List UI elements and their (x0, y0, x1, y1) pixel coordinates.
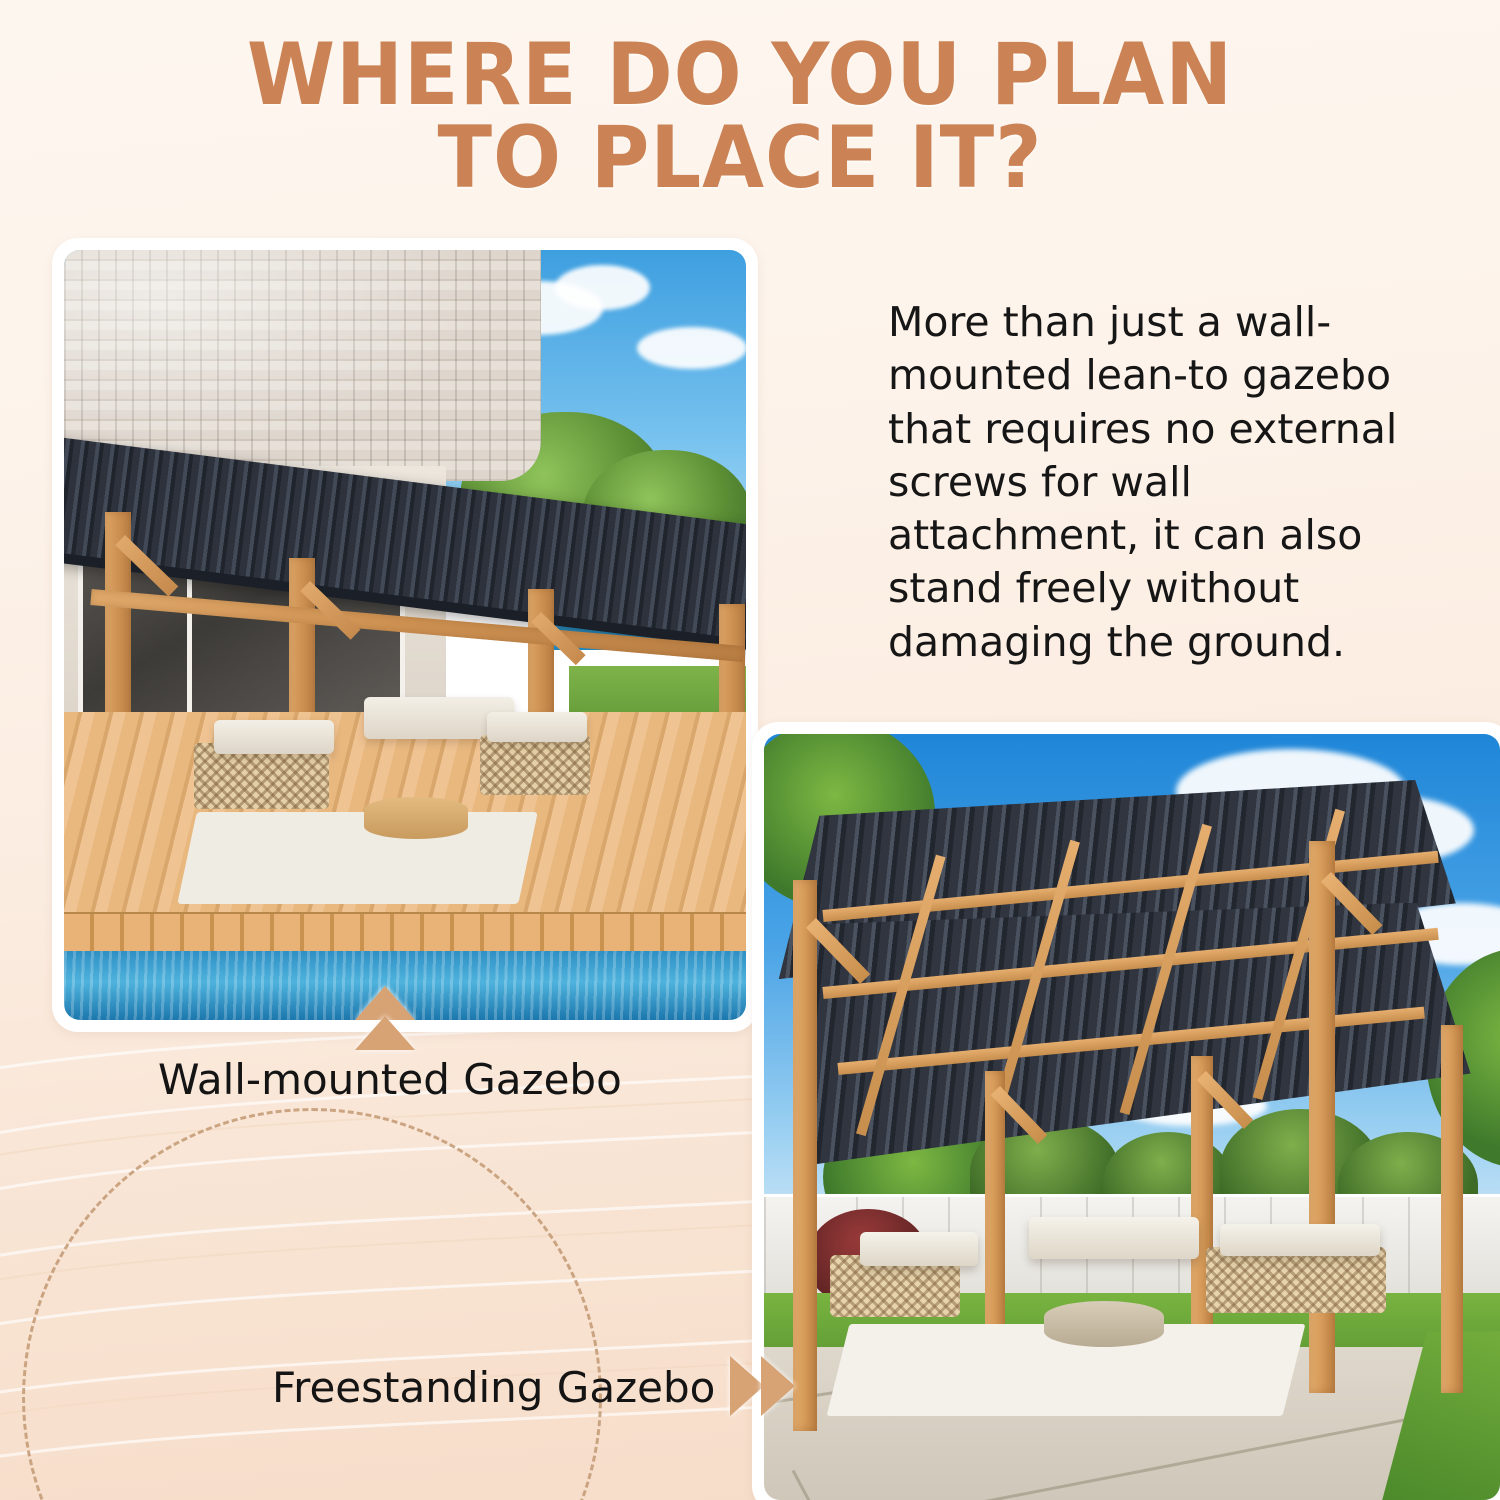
coffee-table (1044, 1301, 1164, 1347)
wicker-sectional (1206, 1247, 1386, 1313)
wicker-chair (480, 735, 590, 795)
caption-wall-mounted-gazebo: Wall-mounted Gazebo (158, 1055, 622, 1104)
page-title-line2: TO PLACE IT? (163, 117, 1316, 200)
double-chevron-up-icon (355, 1016, 415, 1050)
gazebo-post (1441, 1025, 1463, 1393)
dashed-circle-decor (22, 1108, 602, 1500)
sectional-cushion (1220, 1224, 1380, 1256)
double-chevron-up-icon (355, 986, 415, 1020)
photo-freestanding-inner (764, 734, 1500, 1500)
page-title: WHERE DO YOU PLAN TO PLACE IT? (163, 34, 1316, 201)
sofa-cushion (860, 1232, 978, 1266)
photo-freestanding-gazebo (752, 722, 1500, 1500)
double-chevron-right-icon (730, 1356, 764, 1416)
chair-cushion (487, 712, 587, 742)
sofa-cushion (214, 720, 334, 754)
outdoor-rug (177, 812, 538, 904)
coffee-table (364, 797, 468, 839)
gazebo-post (793, 880, 817, 1432)
sectional-cushion (1029, 1217, 1199, 1259)
caption-freestanding-gazebo: Freestanding Gazebo (272, 1363, 715, 1412)
photo-wall-mounted-inner (64, 250, 746, 1020)
infographic-canvas: WHERE DO YOU PLAN TO PLACE IT? (0, 0, 1500, 1500)
double-chevron-right-icon (761, 1356, 795, 1416)
body-paragraph: More than just a wall-mounted lean-to ga… (888, 296, 1408, 669)
cloud (637, 327, 746, 369)
photo-wall-mounted-gazebo (52, 238, 758, 1032)
